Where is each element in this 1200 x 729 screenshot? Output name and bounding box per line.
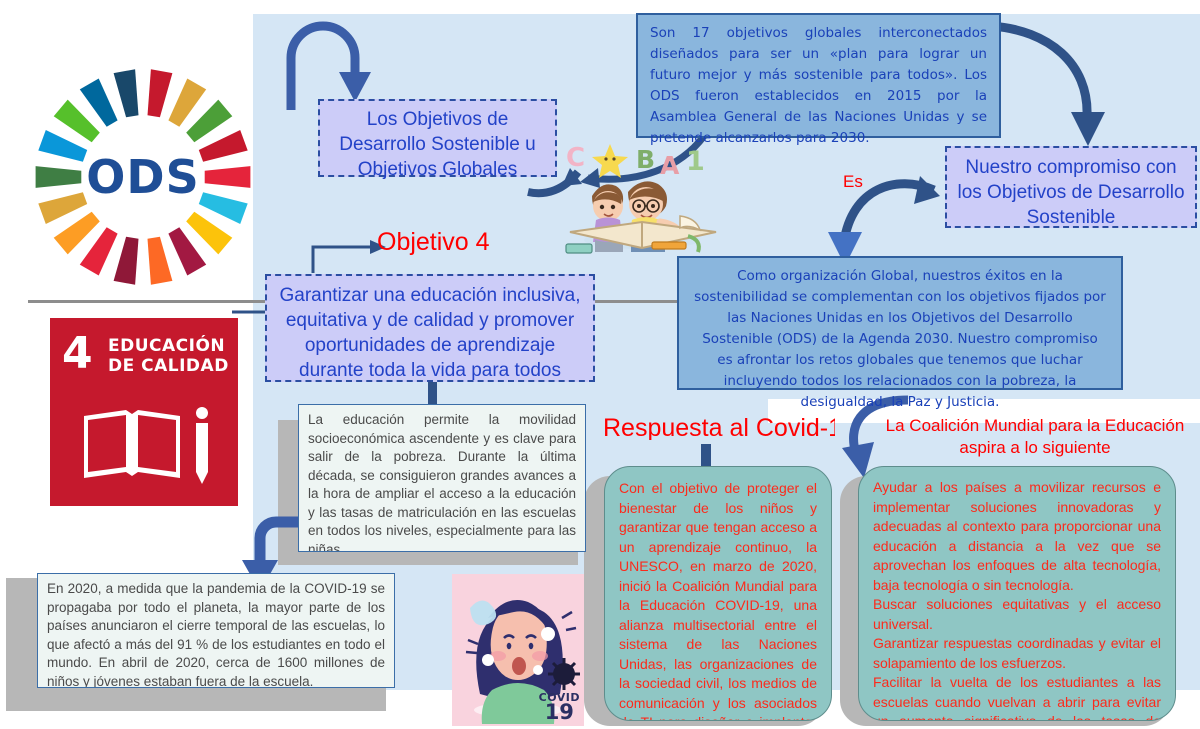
letter-b-icon: B [636, 145, 655, 174]
kids-reading-book-illustration: C B A 1 [556, 132, 728, 254]
coalition-aims-box: Ayudar a los países a movilizar recursos… [858, 466, 1176, 721]
sdg4-label: EDUCACIÓN DE CALIDAD [108, 336, 229, 376]
covid-badge: COVID 19 [539, 690, 580, 720]
sdg4-label-line1: EDUCACIÓN [108, 336, 229, 356]
open-book-and-pencil-icon [74, 396, 224, 496]
infographic-canvas: ODS 4 EDUCACIÓN DE CALIDAD [0, 0, 1200, 729]
covid-badge-number: 19 [539, 705, 580, 720]
heading-coalition-aspires: La Coalición Mundial para la Educación a… [880, 415, 1190, 459]
sdg4-label-line2: DE CALIDAD [108, 356, 229, 376]
title-goals-box: Los Objetivos de Desarrollo Sostenible u… [318, 99, 557, 177]
commitment-title-box: Nuestro compromiso con los Objetivos de … [945, 146, 1197, 228]
heading-covid-response: Respuesta al Covid-19 [603, 414, 835, 440]
letter-a-icon: A [660, 151, 680, 180]
star-icon [592, 144, 628, 178]
unesco-coalition-box: Con el objetivo de proteger el bienestar… [604, 466, 832, 721]
education-mobility-box: La educación permite la movilidad socioe… [298, 404, 586, 552]
ods-wheel-logo: ODS [28, 62, 258, 292]
commitment-paragraph-box: Como organización Global, nuestros éxito… [677, 256, 1123, 390]
ods-hub-text: ODS [28, 62, 258, 292]
sick-girl-covid-illustration: COVID 19 [452, 574, 584, 726]
goal4-statement-box: Garantizar una educación inclusiva, equi… [265, 274, 595, 382]
background-white-top-right [768, 0, 1200, 14]
letter-1-icon: 1 [686, 146, 705, 177]
pandemic-2020-box: En 2020, a medida que la pandemia de la … [37, 573, 395, 688]
arrow-intro-to-commitment [985, 20, 1115, 160]
sdg4-badge: 4 EDUCACIÓN DE CALIDAD [50, 318, 238, 506]
eraser-icon [566, 244, 592, 253]
heading-objetivo4: Objetivo 4 [377, 228, 490, 256]
pencil-icon [652, 242, 686, 249]
es-label: Es [843, 172, 863, 192]
sdg4-number: 4 [62, 332, 93, 376]
intro-paragraph-box: Son 17 objetivos globales interconectado… [636, 13, 1001, 138]
kids-reading-svg: C B A 1 [556, 132, 728, 254]
letter-c-icon: C [566, 143, 585, 173]
